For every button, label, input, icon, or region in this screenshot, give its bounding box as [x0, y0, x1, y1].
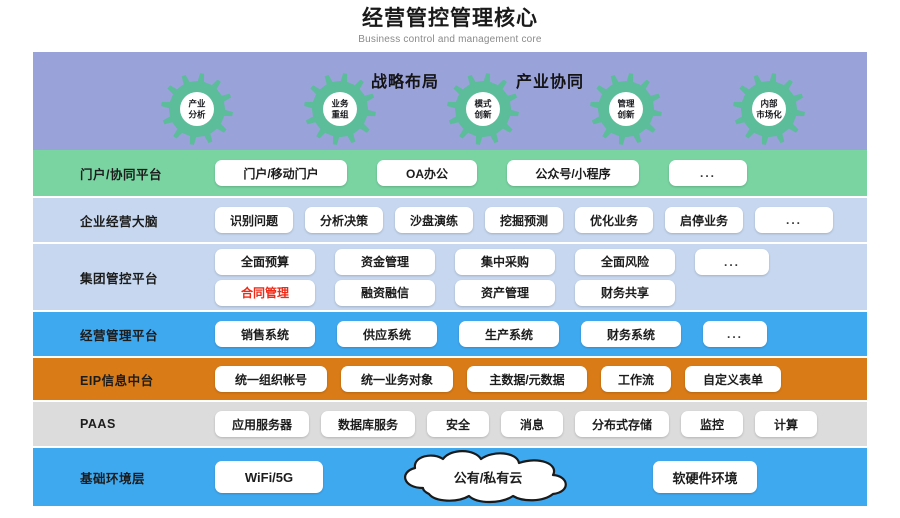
module-chip[interactable]: 统一业务对象 — [341, 366, 453, 392]
more-items-chip[interactable]: ... — [695, 249, 769, 275]
layer-band-label-3: 集团管控平台 — [33, 268, 215, 287]
more-items-chip[interactable]: ... — [755, 207, 833, 233]
cloud-shape[interactable]: 公有/私有云 — [393, 450, 583, 504]
more-items-chip[interactable]: ... — [669, 160, 747, 186]
module-chip[interactable]: OA办公 — [377, 160, 477, 186]
module-chip[interactable]: 计算 — [755, 411, 817, 437]
module-chip[interactable]: 融资融信 — [335, 280, 435, 306]
item-row: 销售系统供应系统生产系统财务系统... — [215, 321, 767, 347]
layer-band-items-1: 门户/移动门户OA办公公众号/小程序... — [215, 160, 867, 186]
module-chip[interactable]: 财务共享 — [575, 280, 675, 306]
module-chip[interactable]: 监控 — [681, 411, 743, 437]
layer-bands: 门户/协同平台门户/移动门户OA办公公众号/小程序...企业经营大脑识别问题分析… — [33, 150, 867, 506]
module-chip[interactable]: 沙盘演练 — [395, 207, 473, 233]
layer-band-label-1: 门户/协同平台 — [33, 164, 215, 183]
strategy-label-1: 战略布局 — [371, 68, 439, 92]
module-chip[interactable]: 合同管理 — [215, 280, 315, 306]
module-chip[interactable]: 集中采购 — [455, 249, 555, 275]
page-title: 经营管控管理核心 — [0, 6, 900, 32]
strategy-label-2: 产业协同 — [516, 68, 584, 92]
more-items-chip[interactable]: ... — [703, 321, 767, 347]
layer-band-items-4: 销售系统供应系统生产系统财务系统... — [215, 321, 867, 347]
layer-band-label-5: EIP信息中台 — [33, 370, 215, 389]
gear-icon-5: 内部市场化 — [732, 72, 806, 146]
module-chip[interactable]: 分析决策 — [305, 207, 383, 233]
module-chip[interactable]: 软硬件环境 — [653, 461, 757, 493]
module-chip[interactable]: WiFi/5G — [215, 461, 323, 493]
layer-band-3: 集团管控平台全面预算资金管理集中采购全面风险...合同管理融资融信资产管理财务共… — [33, 244, 867, 310]
layer-band-items-6: 应用服务器数据库服务安全消息分布式存储监控计算 — [215, 411, 867, 437]
layer-band-1: 门户/协同平台门户/移动门户OA办公公众号/小程序... — [33, 150, 867, 196]
module-chip[interactable]: 安全 — [427, 411, 489, 437]
layer-band-items-3: 全面预算资金管理集中采购全面风险...合同管理融资融信资产管理财务共享 — [215, 249, 867, 306]
gear-icon-4: 管理创新 — [589, 72, 663, 146]
item-row: 全面预算资金管理集中采购全面风险... — [215, 249, 867, 275]
item-row: 识别问题分析决策沙盘演练挖掘预测优化业务启停业务... — [215, 207, 833, 233]
module-chip[interactable]: 启停业务 — [665, 207, 743, 233]
layer-band-6: PAAS应用服务器数据库服务安全消息分布式存储监控计算 — [33, 402, 867, 446]
layer-band-label-2: 企业经营大脑 — [33, 211, 215, 230]
page-subtitle: Business control and management core — [0, 34, 900, 45]
module-chip[interactable]: 资产管理 — [455, 280, 555, 306]
module-chip[interactable]: 公众号/小程序 — [507, 160, 639, 186]
layer-band-label-6: PAAS — [33, 417, 215, 431]
layer-band-2: 企业经营大脑识别问题分析决策沙盘演练挖掘预测优化业务启停业务... — [33, 198, 867, 242]
layer-band-label-4: 经营管理平台 — [33, 325, 215, 344]
item-row: WiFi/5G公有/私有云软硬件环境 — [215, 450, 757, 504]
layer-band-4: 经营管理平台销售系统供应系统生产系统财务系统... — [33, 312, 867, 356]
item-row: 合同管理融资融信资产管理财务共享 — [215, 280, 867, 306]
item-row: 统一组织帐号统一业务对象主数据/元数据工作流自定义表单 — [215, 366, 781, 392]
module-chip[interactable]: 生产系统 — [459, 321, 559, 347]
module-chip[interactable]: 资金管理 — [335, 249, 435, 275]
module-chip[interactable]: 识别问题 — [215, 207, 293, 233]
module-chip[interactable]: 工作流 — [601, 366, 671, 392]
module-chip[interactable]: 消息 — [501, 411, 563, 437]
module-chip[interactable]: 供应系统 — [337, 321, 437, 347]
layer-band-5: EIP信息中台统一组织帐号统一业务对象主数据/元数据工作流自定义表单 — [33, 358, 867, 400]
module-chip[interactable]: 财务系统 — [581, 321, 681, 347]
layer-band-label-7: 基础环境层 — [33, 468, 215, 487]
module-chip[interactable]: 主数据/元数据 — [467, 366, 587, 392]
gear-icon-1: 产业分析 — [160, 72, 234, 146]
item-row: 门户/移动门户OA办公公众号/小程序... — [215, 160, 747, 186]
module-chip[interactable]: 销售系统 — [215, 321, 315, 347]
layer-band-items-5: 统一组织帐号统一业务对象主数据/元数据工作流自定义表单 — [215, 366, 867, 392]
module-chip[interactable]: 优化业务 — [575, 207, 653, 233]
module-chip[interactable]: 分布式存储 — [575, 411, 669, 437]
page-header: 经营管控管理核心 Business control and management… — [0, 0, 900, 45]
layer-band-items-2: 识别问题分析决策沙盘演练挖掘预测优化业务启停业务... — [215, 207, 867, 233]
module-chip[interactable]: 自定义表单 — [685, 366, 781, 392]
module-chip[interactable]: 挖掘预测 — [485, 207, 563, 233]
module-chip[interactable]: 全面风险 — [575, 249, 675, 275]
item-row: 应用服务器数据库服务安全消息分布式存储监控计算 — [215, 411, 817, 437]
diagram-canvas: 经营管控管理核心 Business control and management… — [0, 0, 900, 518]
module-chip[interactable]: 全面预算 — [215, 249, 315, 275]
module-chip[interactable]: 统一组织帐号 — [215, 366, 327, 392]
module-chip[interactable]: 门户/移动门户 — [215, 160, 347, 186]
layer-band-7: 基础环境层WiFi/5G公有/私有云软硬件环境 — [33, 448, 867, 506]
layer-band-items-7: WiFi/5G公有/私有云软硬件环境 — [215, 450, 867, 504]
module-chip[interactable]: 数据库服务 — [321, 411, 415, 437]
architecture-stack: 战略布局产业协同产业分析业务重组模式创新管理创新内部市场化 门户/协同平台门户/… — [33, 52, 867, 506]
module-chip[interactable]: 应用服务器 — [215, 411, 309, 437]
gear-icon-2: 业务重组 — [303, 72, 377, 146]
gear-band-inner: 战略布局产业协同产业分析业务重组模式创新管理创新内部市场化 — [33, 52, 867, 150]
gear-icon-3: 模式创新 — [446, 72, 520, 146]
gear-band: 战略布局产业协同产业分析业务重组模式创新管理创新内部市场化 — [33, 52, 867, 150]
